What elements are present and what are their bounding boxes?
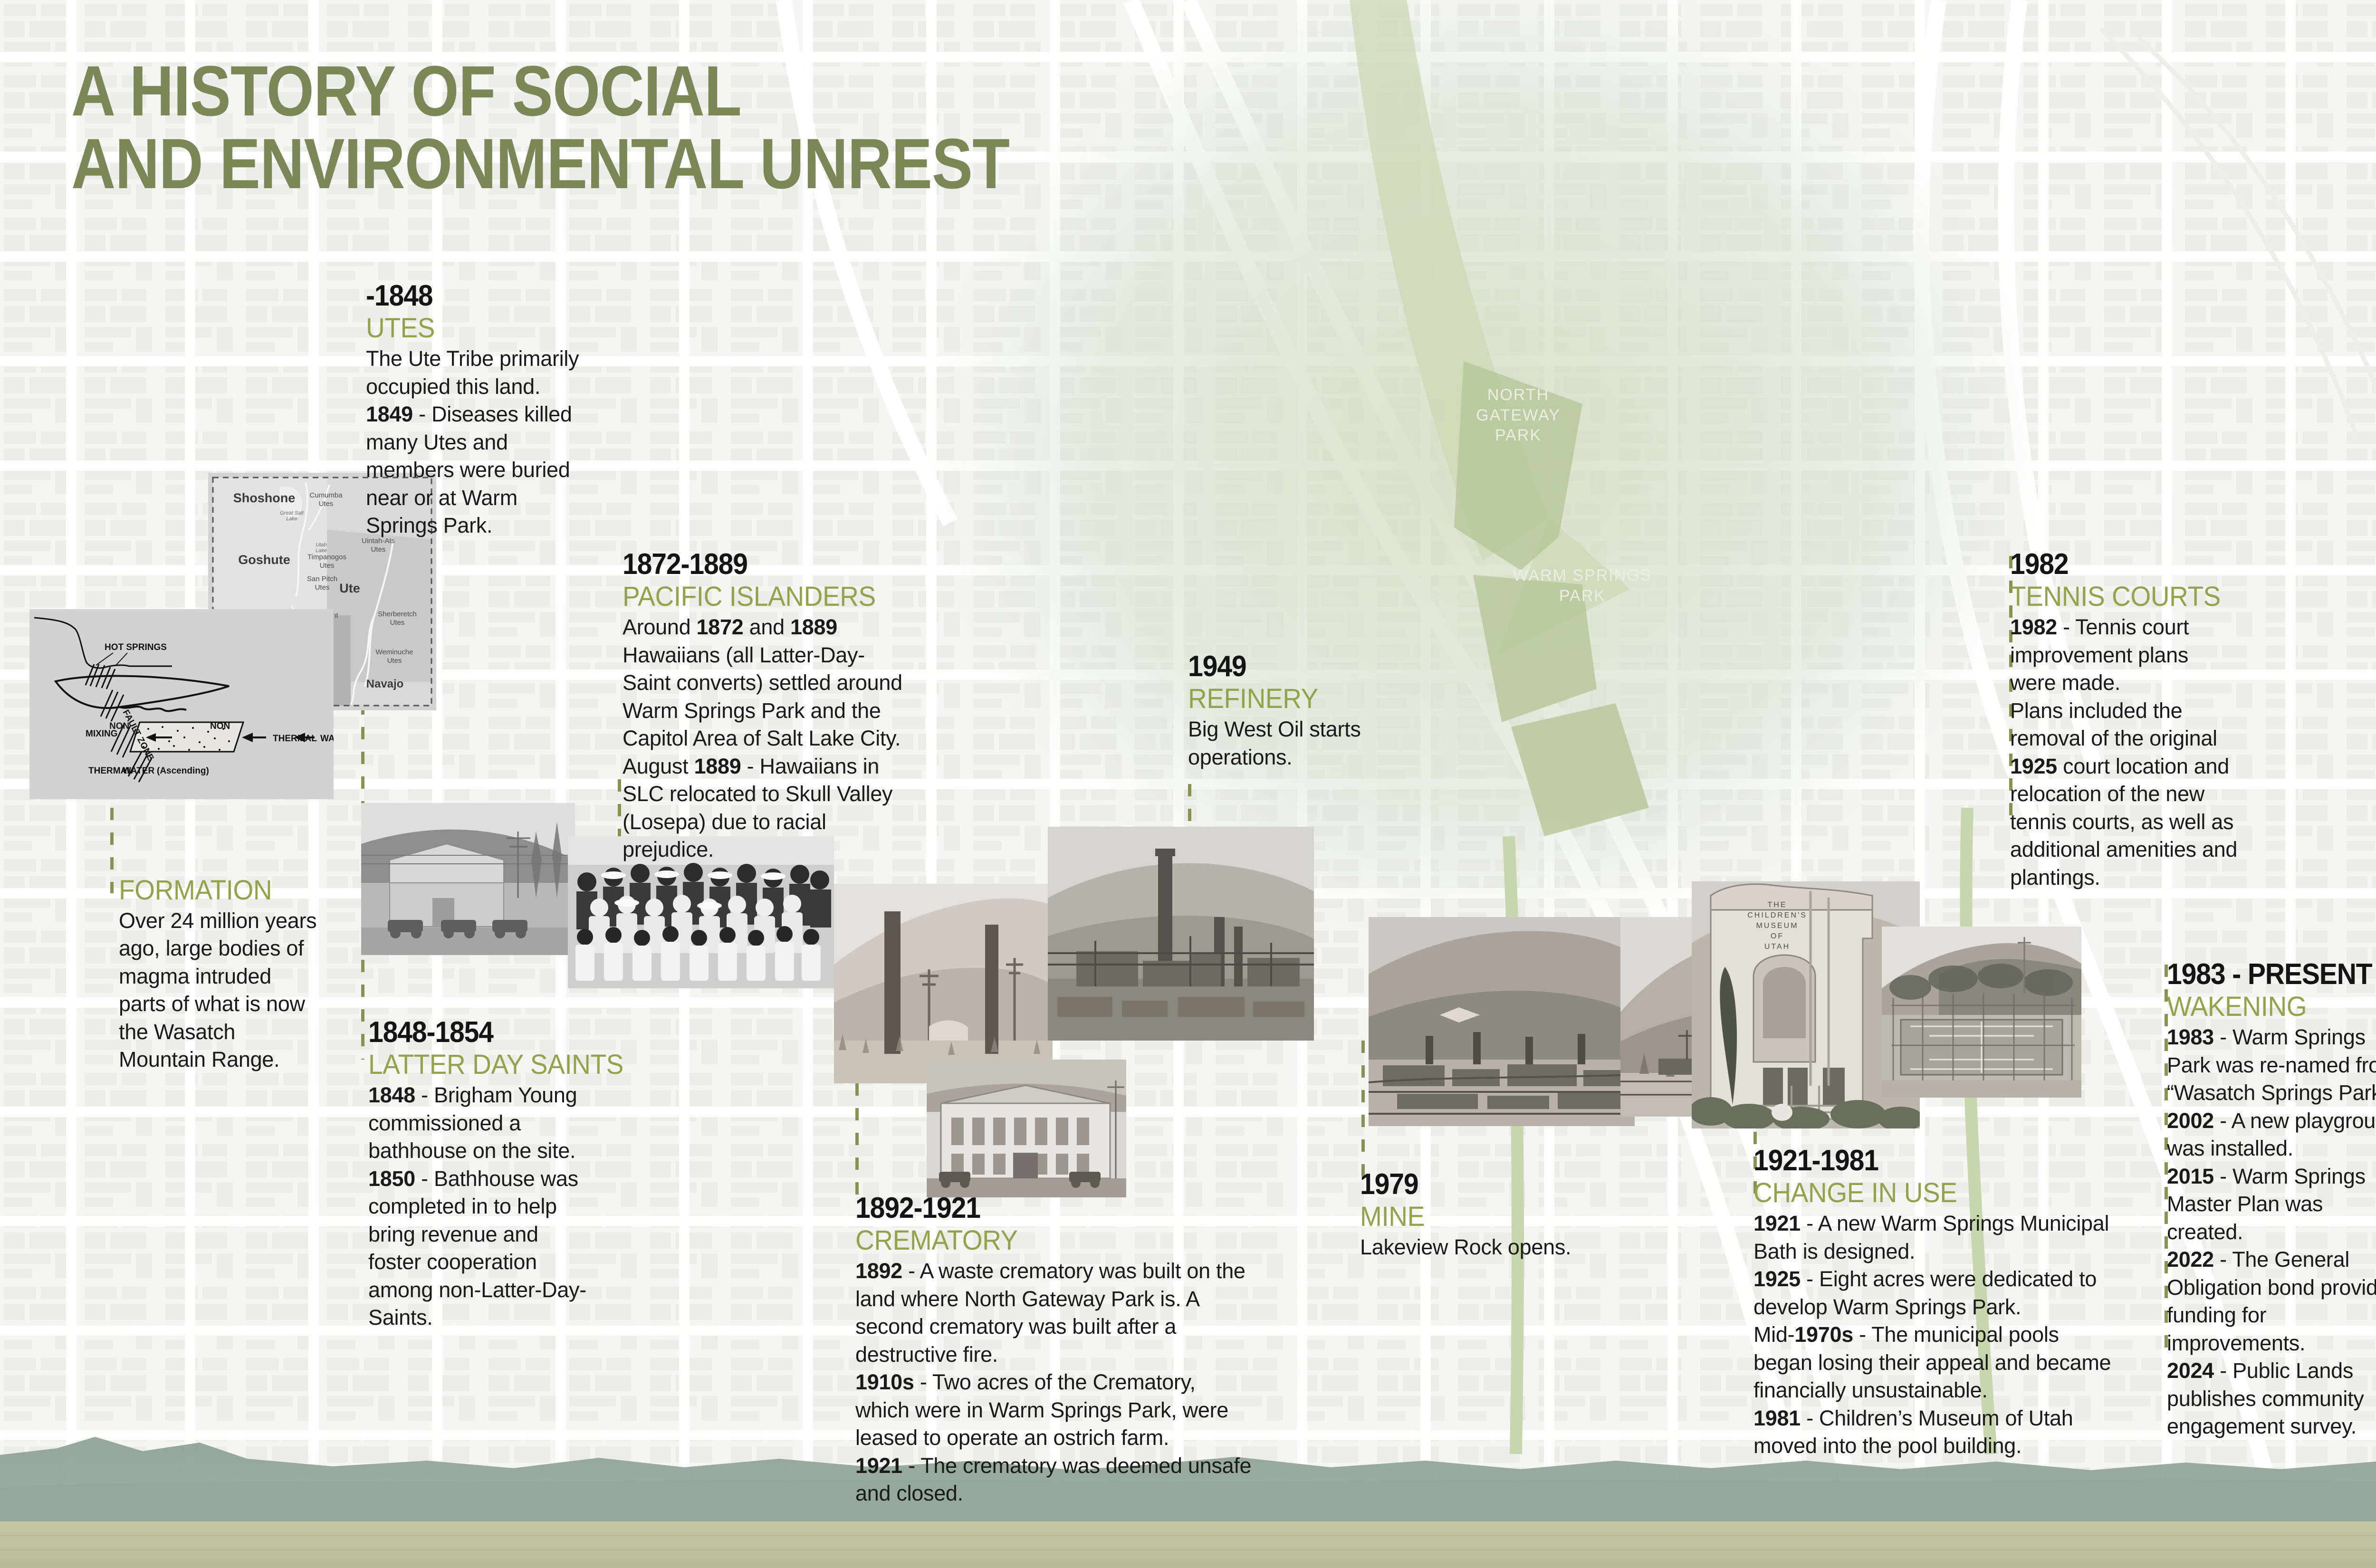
svg-text:Lake: Lake — [316, 548, 327, 554]
timeline-year: 1949 — [1188, 651, 1389, 682]
map-label-warm-springs-park: WARM SPRINGS PARK — [1483, 565, 1682, 606]
timeline-entry-change-in-use: 1921-1981 CHANGE IN USE 1921 - A new War… — [1753, 1145, 2115, 1460]
timeline-year: 1979 — [1360, 1169, 1565, 1200]
connector-crematory — [855, 1083, 859, 1197]
timeline-category: REFINERY — [1188, 684, 1396, 715]
timeline-entry-pacific-islanders: 1872-1889 PACIFIC ISLANDERS Around 1872 … — [623, 549, 908, 864]
svg-text:MIXING: MIXING — [86, 729, 118, 739]
timeline-entry-latter-day-saints: 1848-1854 LATTER DAY SAINTS 1848 - Brigh… — [368, 1017, 596, 1332]
svg-text:Lake: Lake — [286, 516, 297, 522]
svg-text:THERMAL: THERMAL — [273, 734, 317, 744]
photo-bathhouse-sulphur — [361, 803, 575, 955]
svg-text:Sherberetch: Sherberetch — [378, 610, 417, 618]
timeline-year: -1848 — [366, 280, 576, 311]
timeline-body: The Ute Tribe primarily occupied this la… — [366, 345, 594, 540]
svg-text:OF: OF — [1771, 932, 1784, 940]
timeline-category: CREMATORY — [855, 1225, 1235, 1256]
timeline-entry-formation: FORMATION Over 24 million years ago, lar… — [119, 873, 318, 1074]
timeline-body: Big West Oil starts operations. — [1188, 716, 1407, 771]
timeline-entry-tennis-courts: 1982 TENNIS COURTS 1982 - Tennis court i… — [2010, 549, 2238, 891]
photo-tennis-courts — [1882, 927, 2081, 1098]
page-title: A HISTORY OF SOCIAL AND ENVIRONMENTAL UN… — [71, 55, 1009, 200]
connector-mine — [1361, 1041, 1365, 1178]
svg-text:Utes: Utes — [387, 657, 402, 665]
timeline-body: 1848 - Brigham Young commissioned a bath… — [368, 1081, 596, 1332]
timeline-body: 1921 - A new Warm Springs Municipal Bath… — [1753, 1210, 2115, 1460]
timeline-entry-mine: 1979 MINE Lakeview Rock opens. — [1360, 1169, 1583, 1262]
timeline-category: WAKENING — [2167, 992, 2376, 1023]
timeline-year: 1892-1921 — [855, 1193, 1223, 1224]
connector-formation — [110, 808, 114, 893]
photo-municipal-bath — [927, 1060, 1126, 1197]
svg-text:UTAH: UTAH — [1764, 943, 1790, 951]
svg-text:Great Salt: Great Salt — [280, 510, 304, 516]
svg-text:Utes: Utes — [320, 562, 335, 570]
photo-refinery — [1048, 827, 1314, 1041]
svg-text:Ute: Ute — [339, 581, 360, 595]
timeline-body: 1983 - Warm Springs Park was re-named fr… — [2167, 1023, 2376, 1441]
photo-quarry-operations — [1369, 917, 1635, 1126]
timeline-category: TENNIS COURTS — [2010, 582, 2227, 612]
timeline-year: 1983 - PRESENT — [2167, 959, 2376, 990]
svg-text:Goshute: Goshute — [238, 553, 290, 567]
svg-text:Navajo: Navajo — [366, 678, 404, 690]
timeline-body: Over 24 million years ago, large bodies … — [119, 907, 318, 1074]
svg-text:Utes: Utes — [371, 545, 386, 554]
timeline-category: LATTER DAY SAINTS — [368, 1050, 585, 1080]
timeline-category: FORMATION — [119, 875, 308, 906]
timeline-body: Around 1872 and 1889 Hawaiians (all Latt… — [623, 613, 908, 864]
hot-springs-fault-cross-section: HOT SPRINGS NON THERMAL WATER x NON MIXI… — [29, 609, 334, 799]
timeline-year: 1921-1981 — [1753, 1145, 2086, 1176]
svg-text:HOT SPRINGS: HOT SPRINGS — [105, 642, 167, 652]
svg-text:Utes: Utes — [390, 619, 405, 627]
connector-latter-day — [361, 960, 364, 1060]
svg-text:Shoshone: Shoshone — [233, 491, 296, 505]
svg-text:(Ascending): (Ascending) — [157, 766, 209, 776]
timeline-category: PACIFIC ISLANDERS — [623, 582, 893, 612]
timeline-entry-crematory: 1892-1921 CREMATORY 1892 - A waste crema… — [855, 1193, 1255, 1508]
timeline-year: 1848-1854 — [368, 1017, 578, 1048]
svg-text:Utah: Utah — [316, 542, 326, 548]
timeline-entry-wakening: 1983 - PRESENT WAKENING 1983 - Warm Spri… — [2167, 959, 2376, 1441]
svg-text:Utes: Utes — [315, 583, 330, 592]
timeline-year: 1982 — [2010, 549, 2220, 580]
timeline-category: CHANGE IN USE — [1753, 1178, 2097, 1209]
svg-text:MUSEUM: MUSEUM — [1756, 922, 1798, 930]
timeline-body: 1982 - Tennis court improvement plans we… — [2010, 613, 2238, 891]
svg-text:San Pitch: San Pitch — [307, 575, 337, 583]
timeline-entry-refinery: 1949 REFINERY Big West Oil starts operat… — [1188, 651, 1407, 771]
svg-text:THE: THE — [1768, 901, 1787, 909]
svg-text:CHILDREN'S: CHILDREN'S — [1747, 911, 1807, 919]
timeline-body: 1892 - A waste crematory was built on th… — [855, 1257, 1255, 1508]
svg-text:NON: NON — [210, 721, 230, 731]
timeline-entry-utes: -1848 UTES The Ute Tribe primarily occup… — [366, 280, 594, 540]
map-label-north-gateway-park: NORTH GATEWAY PARK — [1440, 385, 1597, 446]
svg-text:Cumumba: Cumumba — [309, 491, 343, 499]
svg-text:Weminuche: Weminuche — [376, 648, 413, 656]
svg-text:WATER: WATER — [320, 734, 334, 744]
timeline-category: UTES — [366, 313, 583, 344]
timeline-body: Lakeview Rock opens. — [1360, 1233, 1583, 1262]
svg-text:Timpanogos: Timpanogos — [307, 553, 346, 561]
photo-smokestacks-hillside — [834, 884, 1053, 1083]
timeline-category: MINE — [1360, 1202, 1572, 1233]
svg-text:Utes: Utes — [319, 500, 334, 508]
svg-text:WATER: WATER — [123, 766, 154, 776]
timeline-year: 1872-1889 — [623, 549, 885, 580]
